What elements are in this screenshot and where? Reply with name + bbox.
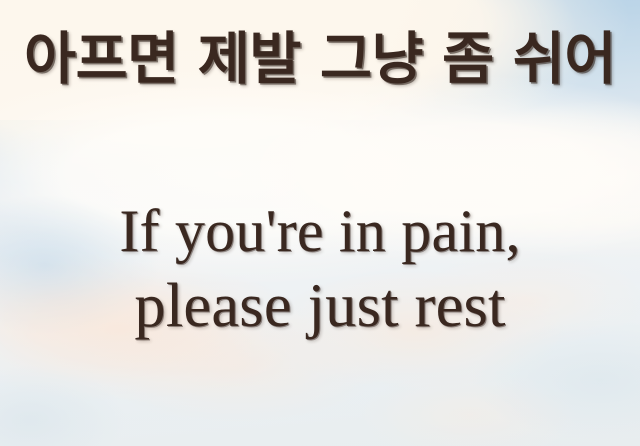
quote-text-block: 아프면 제발 그냥 좀 쉬어 If you're in pain, please… bbox=[0, 0, 640, 446]
korean-quote-line: 아프면 제발 그냥 좀 쉬어 bbox=[0, 27, 640, 93]
english-quote-line-2: please just rest bbox=[0, 272, 640, 340]
quote-image: 아프면 제발 그냥 좀 쉬어 If you're in pain, please… bbox=[0, 0, 640, 446]
english-quote-line-1: If you're in pain, bbox=[0, 199, 640, 264]
